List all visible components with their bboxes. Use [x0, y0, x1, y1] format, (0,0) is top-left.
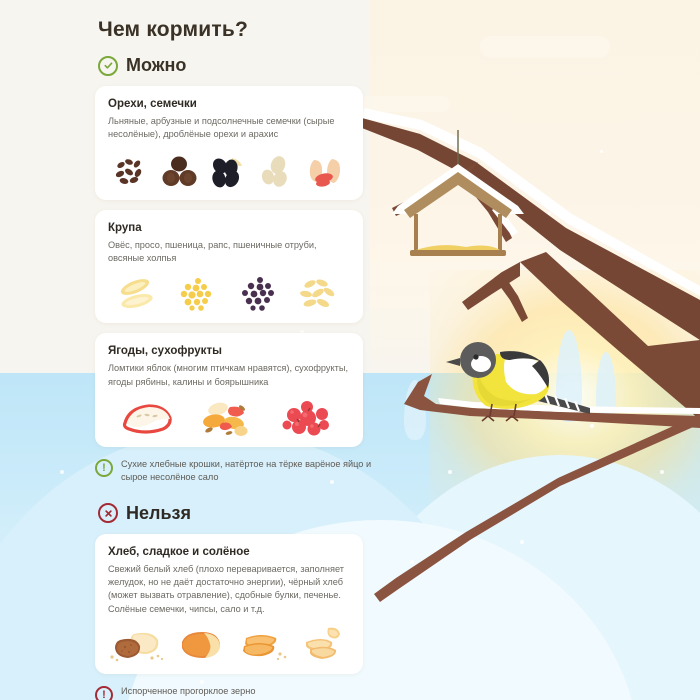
card-title: Орехи, семечки: [108, 98, 350, 110]
content-column: Чем кормить? Можно Орехи, семечки Льняны…: [0, 0, 380, 700]
rapeseed-icon: [235, 275, 283, 313]
card-title: Хлеб, сладкое и солёное: [108, 546, 350, 558]
page-title: Чем кормить?: [98, 18, 380, 42]
exclamation-circle-red-icon: !: [95, 686, 113, 700]
feeder-seed-pile: [416, 245, 500, 250]
deny-section-header: Нельзя: [98, 503, 380, 524]
melon-seeds-icon: [253, 152, 301, 190]
red-berries-icon: [277, 399, 343, 437]
check-circle-icon: [98, 56, 118, 76]
card-title: Ягоды, сухофрукты: [108, 345, 350, 357]
allow-note: ! Сухие хлебные крошки, натёртое на тёрк…: [95, 458, 375, 485]
bread-slices-icon: [108, 626, 170, 664]
cross-circle-icon: [98, 503, 118, 523]
millet-icon: [175, 275, 223, 313]
card-nuts-seeds[interactable]: Орехи, семечки Льняные, арбузные и подсо…: [95, 86, 363, 200]
card-description: Овёс, просо, пшеница, рапс, пшеничные от…: [108, 239, 350, 266]
card-icon-row: [108, 399, 350, 437]
deny-section-label: Нельзя: [126, 503, 191, 524]
wheat-grains-icon: [296, 275, 344, 313]
cookies-icon: [232, 626, 294, 664]
peanuts-icon: [302, 152, 350, 190]
feeder-tray: [410, 250, 506, 256]
card-title: Крупа: [108, 222, 350, 234]
dried-fruits-icon: [196, 399, 262, 437]
card-description: Свежий белый хлеб (плохо переваривается,…: [108, 563, 350, 616]
crushed-nuts-icon: [157, 152, 205, 190]
oat-flakes-icon: [114, 275, 162, 313]
card-grains[interactable]: Крупа Овёс, просо, пшеница, рапс, пшенич…: [95, 210, 363, 324]
card-berries-dried-fruits[interactable]: Ягоды, сухофрукты Ломтики яблок (многим …: [95, 333, 363, 447]
chips-icon: [294, 626, 356, 664]
bread-loaf-icon: [170, 626, 232, 664]
card-icon-row: [108, 275, 350, 313]
allow-section-header: Можно: [98, 55, 380, 76]
card-description: Ломтики яблок (многим птичкам нравятся),…: [108, 362, 350, 389]
allow-note-text: Сухие хлебные крошки, натёртое на тёрке …: [121, 458, 375, 485]
card-icon-row: [108, 626, 350, 664]
card-bread-sweet-salty[interactable]: Хлеб, сладкое и солёное Свежий белый хле…: [95, 534, 363, 674]
deny-note-text: Испорченное прогорклое зерно: [121, 685, 255, 698]
exclamation-circle-green-icon: !: [95, 459, 113, 477]
apple-slice-icon: [115, 399, 181, 437]
bird-perch-branch-lower: [374, 414, 700, 602]
sunflower-seeds-icon: [205, 152, 253, 190]
allow-section-label: Можно: [126, 55, 186, 76]
card-icon-row: [108, 152, 350, 190]
deny-note: ! Испорченное прогорклое зерно: [95, 685, 375, 700]
card-description: Льняные, арбузные и подсолнечные семечки…: [108, 115, 350, 142]
flax-seeds-icon: [108, 152, 156, 190]
